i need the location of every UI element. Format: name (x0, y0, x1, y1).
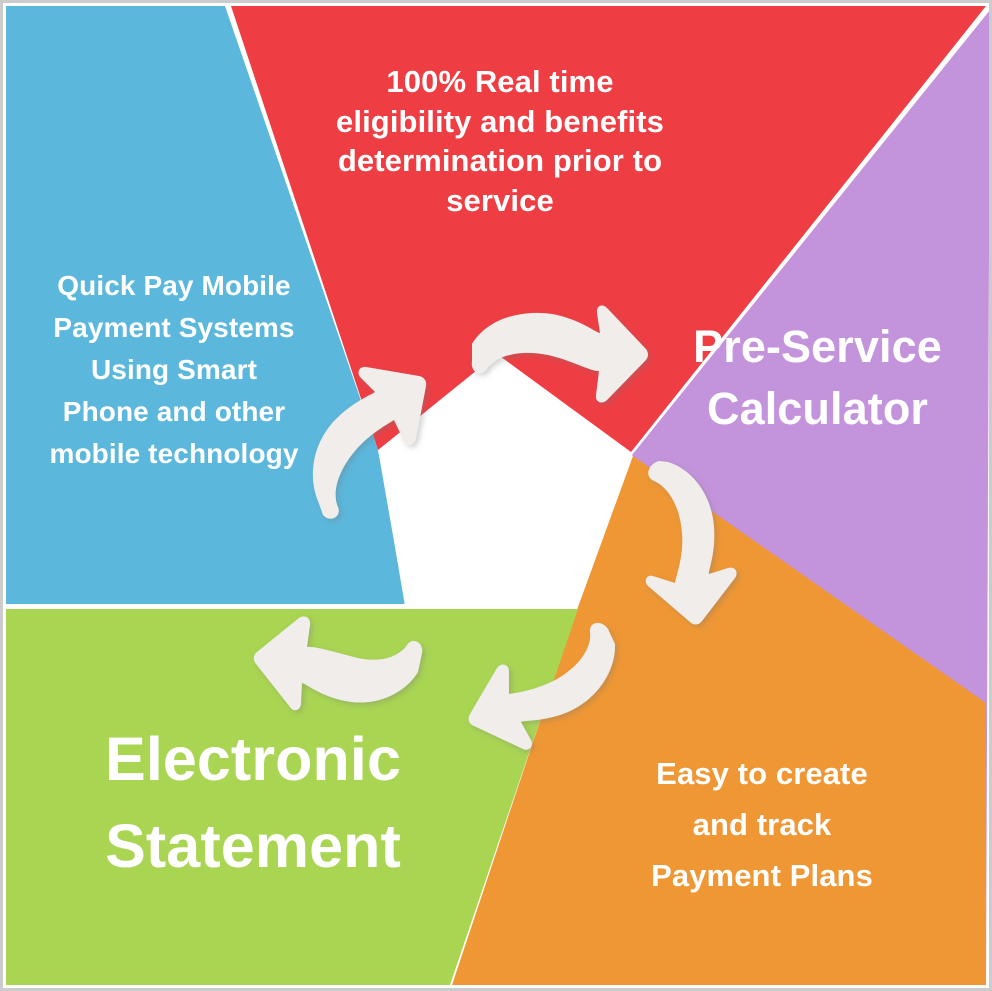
diagram-canvas: 100% Real time eligibility and benefits … (0, 0, 992, 991)
pentagon-cycle-diagram (0, 0, 992, 991)
